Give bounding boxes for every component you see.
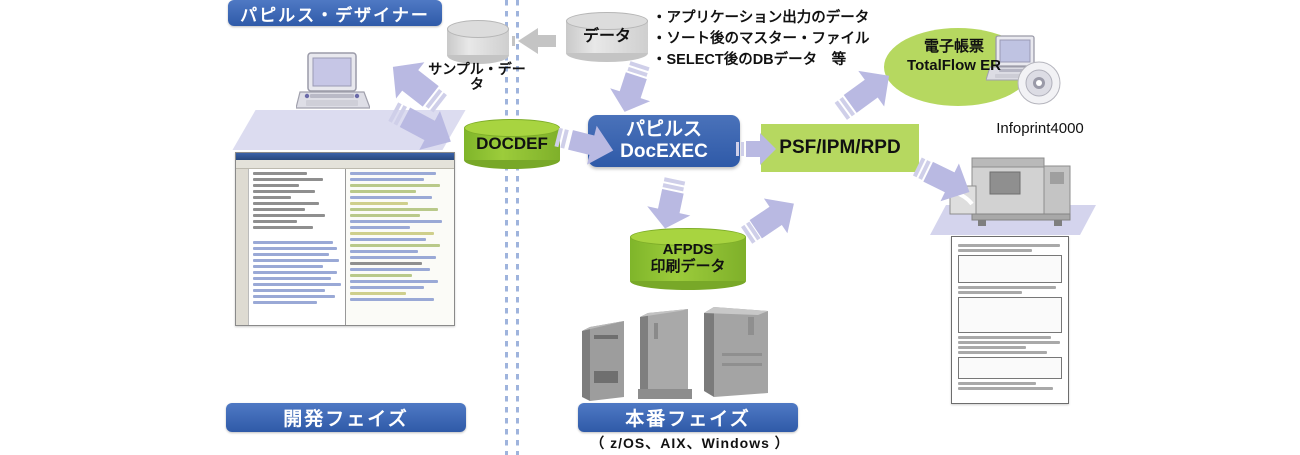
label-data: データ xyxy=(583,28,631,46)
totalflow-line-2: TotalFlow ER xyxy=(907,57,1001,76)
node-psf-ipm-rpd: PSF/IPM/RPD xyxy=(761,124,919,172)
arrow-afpds-to-printer xyxy=(740,186,808,248)
arrow-to-sample-data xyxy=(512,26,558,56)
papyrus-designer-screenshot xyxy=(235,152,455,326)
diagram-canvas: パピルス・デザイナー 開発フェイズ 本番フェイズ （ z/OS、AIX、Wind… xyxy=(0,0,1300,455)
label-totalflow-er: 電子帳票 TotalFlow ER xyxy=(884,38,1024,76)
docexec-line-1: パピルス xyxy=(626,119,702,141)
production-phase-platforms: （ z/OS、AIX、Windows ） xyxy=(540,433,840,453)
laptop-icon xyxy=(296,52,370,114)
totalflow-line-1: 電子帳票 xyxy=(924,38,984,57)
cylinder-docdef: DOCDEF xyxy=(464,119,560,169)
arrow-data-to-docexec xyxy=(604,58,660,120)
banner-development-phase: 開発フェイズ xyxy=(226,403,466,432)
arrow-docexec-to-psf xyxy=(736,128,778,170)
afpds-line-1: AFPDS xyxy=(663,242,714,259)
cylinder-sample-data xyxy=(447,20,509,64)
cylinder-afpds-print-data: AFPDS 印刷データ xyxy=(630,228,746,290)
afpds-line-2: 印刷データ xyxy=(650,259,725,276)
label-docdef: DOCDEF xyxy=(476,134,548,153)
bullet-item-1: ・アプリケーション出力のデータ xyxy=(652,8,912,29)
server-tower-icon xyxy=(572,305,790,401)
cylinder-data: データ xyxy=(566,12,648,62)
bullet-item-2: ・ソート後のマスター・ファイル xyxy=(652,29,912,50)
docexec-line-2: DocEXEC xyxy=(620,141,708,163)
banner-production-phase: 本番フェイズ xyxy=(578,403,798,432)
printed-document-icon xyxy=(951,236,1069,404)
arrow-designer-to-docdef xyxy=(386,96,468,162)
arrow-psf-to-printer xyxy=(912,150,982,212)
banner-papyrus-designer: パピルス・デザイナー xyxy=(228,0,442,26)
label-infoprint4000: Infoprint4000 xyxy=(960,120,1120,137)
arrow-docdef-to-docexec xyxy=(552,116,622,172)
